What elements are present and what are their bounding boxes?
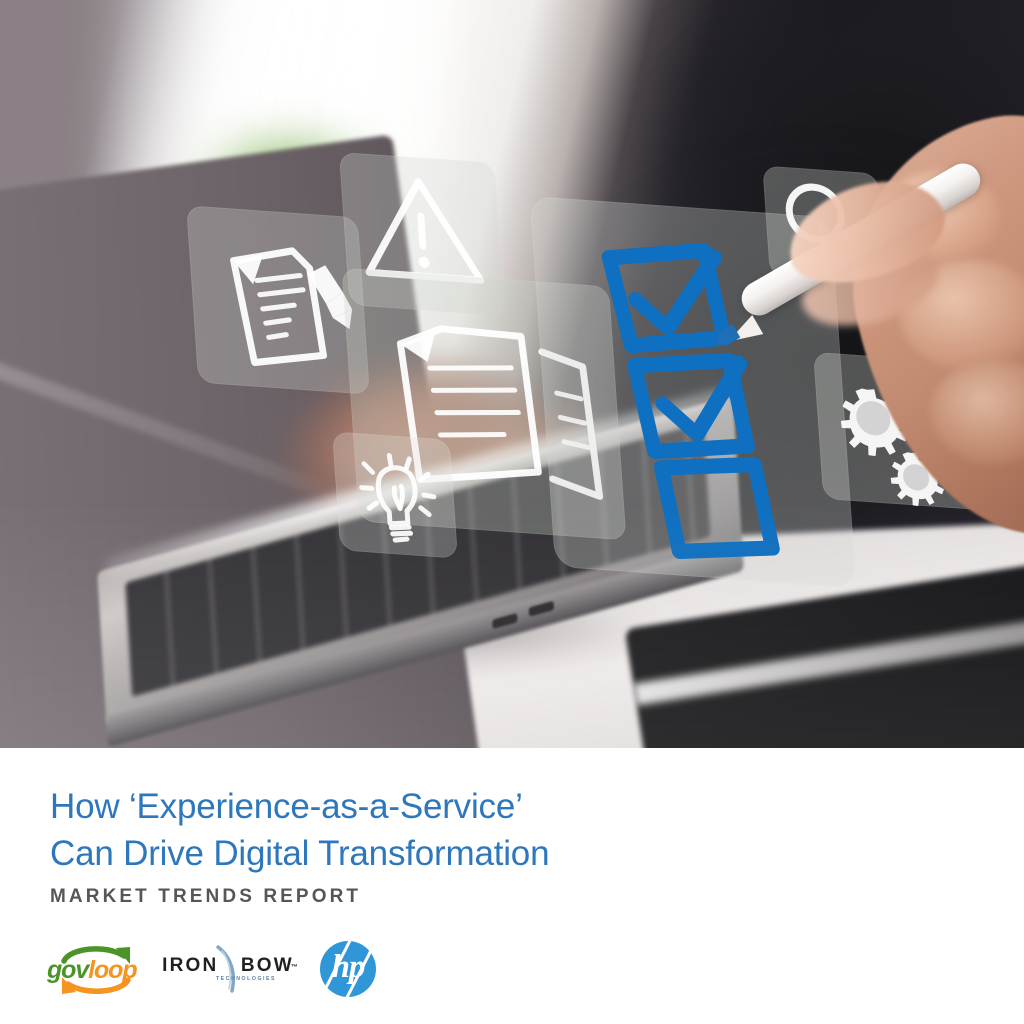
govloop-logo[interactable]: govloop xyxy=(44,940,148,998)
iron-bow-text-bow: BOW xyxy=(241,955,294,976)
iron-bow-text-iron: IRON xyxy=(162,955,218,976)
card-lightbulb xyxy=(332,431,458,558)
logo-row: govloop IRON BOW™ TECHNOLOGIES hp xyxy=(44,938,376,1000)
iron-bow-wordmark: IRON BOW™ xyxy=(158,955,298,977)
hero-image xyxy=(0,0,1024,748)
hp-wordmark: hp xyxy=(320,941,376,997)
cover-content: How ‘Experience-as-a-Service’ Can Drive … xyxy=(0,748,1024,1024)
govloop-text-loop: loop xyxy=(88,956,136,984)
hp-logo[interactable]: hp xyxy=(320,941,376,997)
card-document-pencil xyxy=(186,205,370,394)
page-title: How ‘Experience-as-a-Service’ Can Drive … xyxy=(50,784,950,877)
iron-bow-tagline: TECHNOLOGIES xyxy=(158,976,298,982)
iron-bow-logo[interactable]: IRON BOW™ TECHNOLOGIES xyxy=(158,943,298,995)
document-pencil-icon xyxy=(186,205,370,394)
govloop-wordmark: govloop xyxy=(47,958,137,983)
govloop-text-gov: gov xyxy=(47,956,88,984)
iron-bow-trademark: ™ xyxy=(291,964,300,971)
lightbulb-icon xyxy=(332,431,458,558)
report-cover-page: How ‘Experience-as-a-Service’ Can Drive … xyxy=(0,0,1024,1024)
report-type-label: MARKET TRENDS REPORT xyxy=(50,886,361,908)
